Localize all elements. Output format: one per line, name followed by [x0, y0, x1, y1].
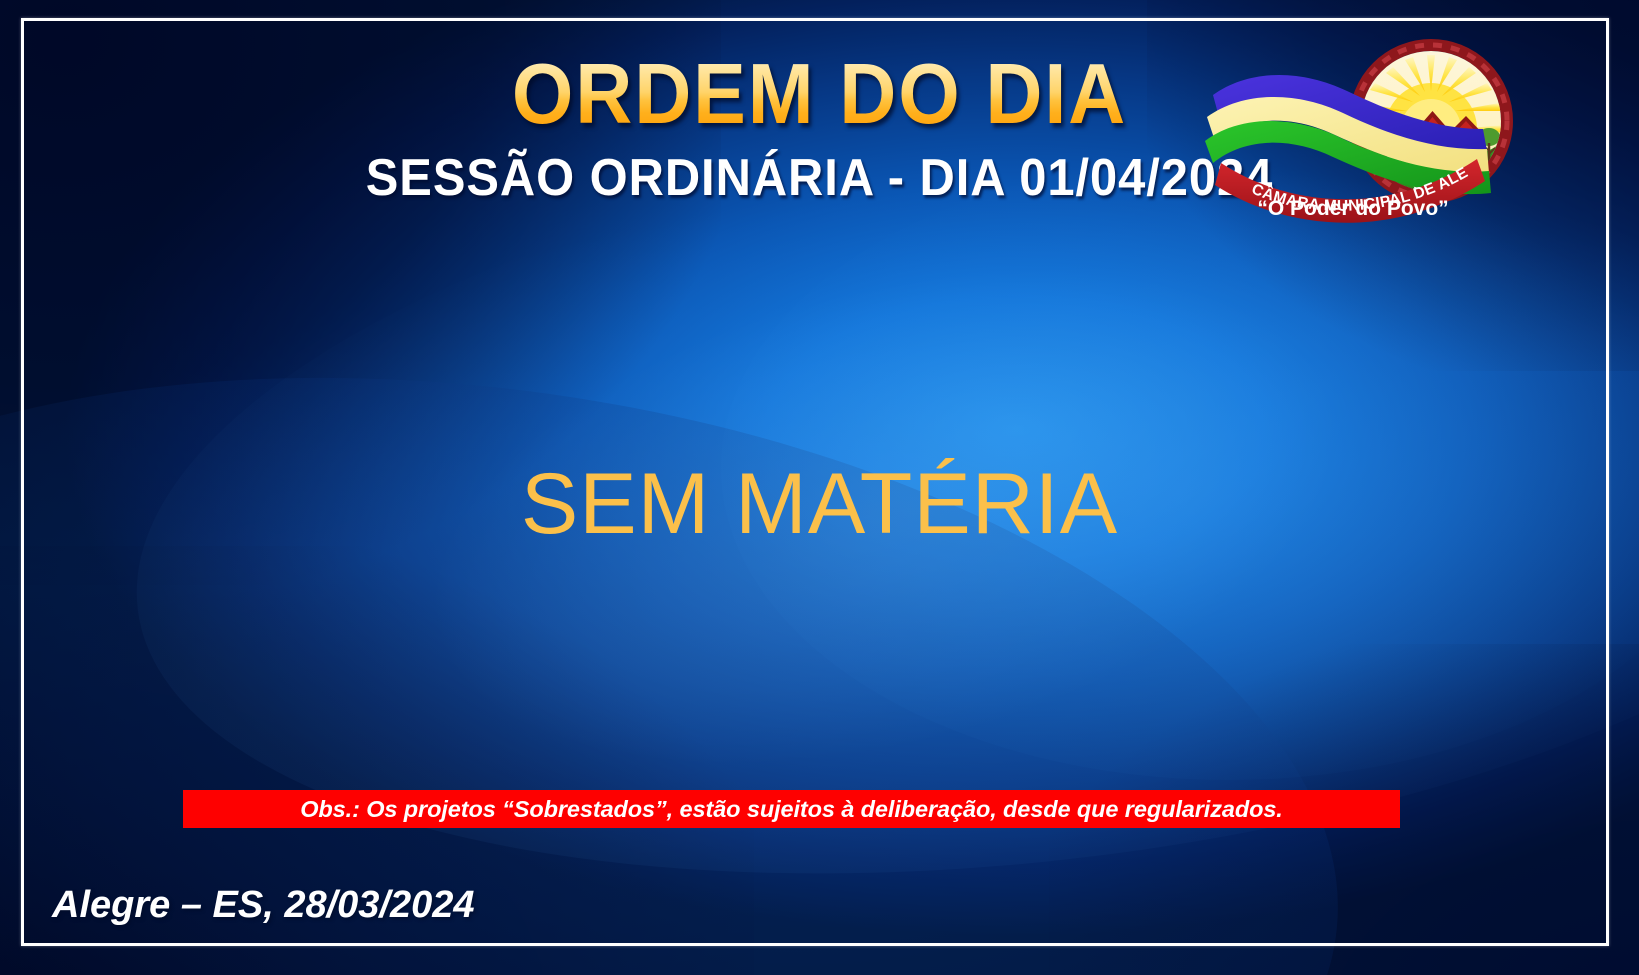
observation-banner: Obs.: Os projetos “Sobrestados”, estão s…	[183, 790, 1400, 828]
footer-location-date: Alegre – ES, 28/03/2024	[52, 884, 475, 927]
slide-canvas: ORDEM DO DIA SESSÃO ORDINÁRIA - DIA 01/0…	[0, 0, 1639, 975]
camara-municipal-de-alegre-logo-icon: CÂMARA MUNICIPAL DE ALEGRE - ES “O Poder…	[1205, 33, 1535, 238]
logo-motto-text: “O Poder do Povo”	[1257, 197, 1448, 220]
body-message: SEM MATÉRIA	[0, 455, 1639, 554]
observation-text: Obs.: Os projetos “Sobrestados”, estão s…	[300, 796, 1283, 823]
